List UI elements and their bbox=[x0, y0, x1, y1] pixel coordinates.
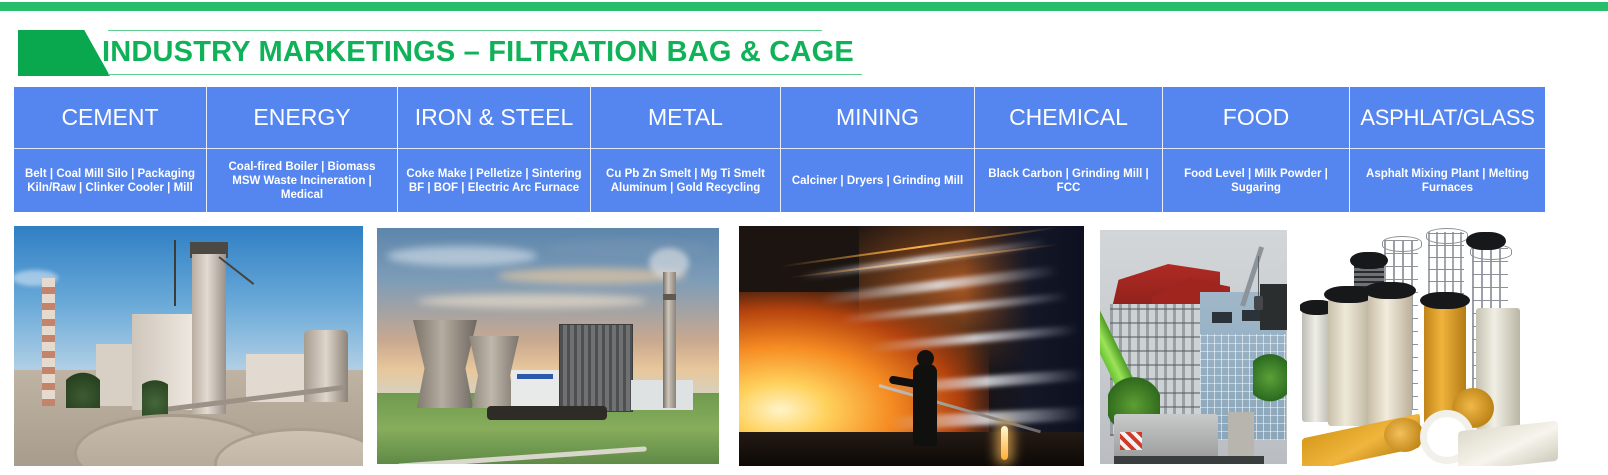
column-header-asphalt-glass: ASPHLAT/GLASS bbox=[1350, 87, 1545, 149]
industry-column-cement[interactable]: CEMENT Belt | Coal Mill Silo | Packaging… bbox=[14, 87, 207, 212]
industry-column-metal[interactable]: METAL Cu Pb Zn Smelt | Mg Ti Smelt Alumi… bbox=[591, 87, 781, 212]
crane-wheel-line bbox=[1114, 456, 1264, 464]
column-applications-food: Food Level | Milk Powder | Sugaring bbox=[1163, 149, 1349, 212]
column-header-metal: METAL bbox=[591, 87, 780, 149]
shadowed-wall bbox=[964, 226, 1084, 466]
column-applications-energy: Coal-fired Boiler | Biomass MSW Waste In… bbox=[207, 149, 397, 212]
column-header-cement: CEMENT bbox=[14, 87, 206, 149]
tree-cluster-left bbox=[66, 368, 100, 408]
baghouse-construction-photo bbox=[1100, 230, 1287, 464]
filter-bag-tan-3 bbox=[1368, 294, 1412, 428]
page-title: INDUSTRY MARKETINGS – FILTRATION BAG & C… bbox=[102, 35, 854, 69]
casing-opening-left bbox=[1212, 312, 1232, 323]
coal-pile bbox=[487, 406, 607, 420]
hazard-stripe-panel bbox=[1120, 432, 1142, 450]
column-applications-metal: Cu Pb Zn Smelt | Mg Ti Smelt Aluminum | … bbox=[591, 149, 780, 212]
column-header-energy: ENERGY bbox=[207, 87, 397, 149]
foliage-right bbox=[1253, 348, 1287, 402]
column-applications-mining: Calciner | Dryers | Grinding Mill bbox=[781, 149, 974, 212]
casing-opening-right bbox=[1242, 310, 1262, 321]
crane-cable bbox=[1258, 256, 1259, 300]
industry-column-mining[interactable]: MINING Calciner | Dryers | Grinding Mill bbox=[781, 87, 975, 212]
cage-ring-top-left bbox=[1382, 236, 1422, 252]
cage-ring-top-center bbox=[1426, 228, 1468, 244]
worker-head bbox=[917, 350, 934, 367]
column-applications-iron-steel: Coke Make | Pelletize | Sintering BF | B… bbox=[398, 149, 590, 212]
bag-cap-tall-right bbox=[1466, 232, 1506, 250]
glowing-billet bbox=[1001, 426, 1008, 460]
top-accent-bar bbox=[0, 2, 1608, 11]
coal-power-plant-photo bbox=[377, 228, 719, 464]
industry-column-food[interactable]: FOOD Food Level | Milk Powder | Sugaring bbox=[1163, 87, 1350, 212]
ductwork-shadow bbox=[1260, 284, 1287, 330]
industry-column-energy[interactable]: ENERGY Coal-fired Boiler | Biomass MSW W… bbox=[207, 87, 398, 212]
chimney-band bbox=[663, 294, 676, 300]
construction-crane-mast bbox=[174, 240, 176, 306]
steel-mill-photo bbox=[739, 226, 1084, 466]
column-header-iron-steel: IRON & STEEL bbox=[398, 87, 590, 149]
title-rule-top bbox=[108, 30, 822, 31]
slide-canvas: INDUSTRY MARKETINGS – FILTRATION BAG & C… bbox=[0, 0, 1608, 475]
bag-cap-orange-4 bbox=[1420, 292, 1470, 309]
column-header-mining: MINING bbox=[781, 87, 974, 149]
cloud-band-1 bbox=[387, 246, 537, 266]
cloud-band-3 bbox=[417, 294, 647, 308]
crane-hook-block bbox=[1254, 296, 1263, 310]
mill-floor bbox=[739, 432, 1084, 466]
bag-cap-dark bbox=[1350, 252, 1388, 269]
felt-roll-orange-curl bbox=[1384, 418, 1424, 452]
title-rule-bottom bbox=[108, 74, 862, 75]
worker-silhouette bbox=[913, 364, 937, 446]
column-applications-asphalt-glass: Asphalt Mixing Plant | Melting Furnaces bbox=[1350, 149, 1545, 212]
column-applications-chemical: Black Carbon | Grinding Mill | FCC bbox=[975, 149, 1162, 212]
photo-strip bbox=[0, 222, 1608, 475]
column-header-chemical: CHEMICAL bbox=[975, 87, 1162, 149]
industry-table: CEMENT Belt | Coal Mill Silo | Packaging… bbox=[14, 87, 1545, 212]
industry-column-asphalt-glass[interactable]: ASPHLAT/GLASS Asphalt Mixing Plant | Mel… bbox=[1350, 87, 1545, 212]
title-zone: INDUSTRY MARKETINGS – FILTRATION BAG & C… bbox=[0, 24, 1608, 80]
bag-cap-tan-3 bbox=[1364, 282, 1416, 299]
concrete-pier bbox=[1228, 412, 1254, 460]
industry-column-iron-steel[interactable]: IRON & STEEL Coke Make | Pelletize | Sin… bbox=[398, 87, 591, 212]
cement-plant-photo bbox=[14, 226, 363, 466]
building-blue-band bbox=[517, 374, 553, 379]
column-header-food: FOOD bbox=[1163, 87, 1349, 149]
industry-column-chemical[interactable]: CHEMICAL Black Carbon | Grinding Mill | … bbox=[975, 87, 1163, 212]
column-applications-cement: Belt | Coal Mill Silo | Packaging Kiln/R… bbox=[14, 149, 206, 212]
striped-chimney bbox=[42, 278, 55, 406]
filter-bag-beige-2 bbox=[1328, 298, 1370, 426]
green-flag-shape bbox=[18, 30, 110, 76]
boiler-steel-structure bbox=[559, 324, 633, 412]
tree-cluster-center bbox=[142, 374, 168, 418]
power-plant-chimney bbox=[663, 272, 676, 408]
preheater-tower bbox=[192, 254, 226, 414]
auxiliary-building bbox=[631, 380, 693, 410]
filter-bags-cages-photo bbox=[1300, 226, 1560, 466]
